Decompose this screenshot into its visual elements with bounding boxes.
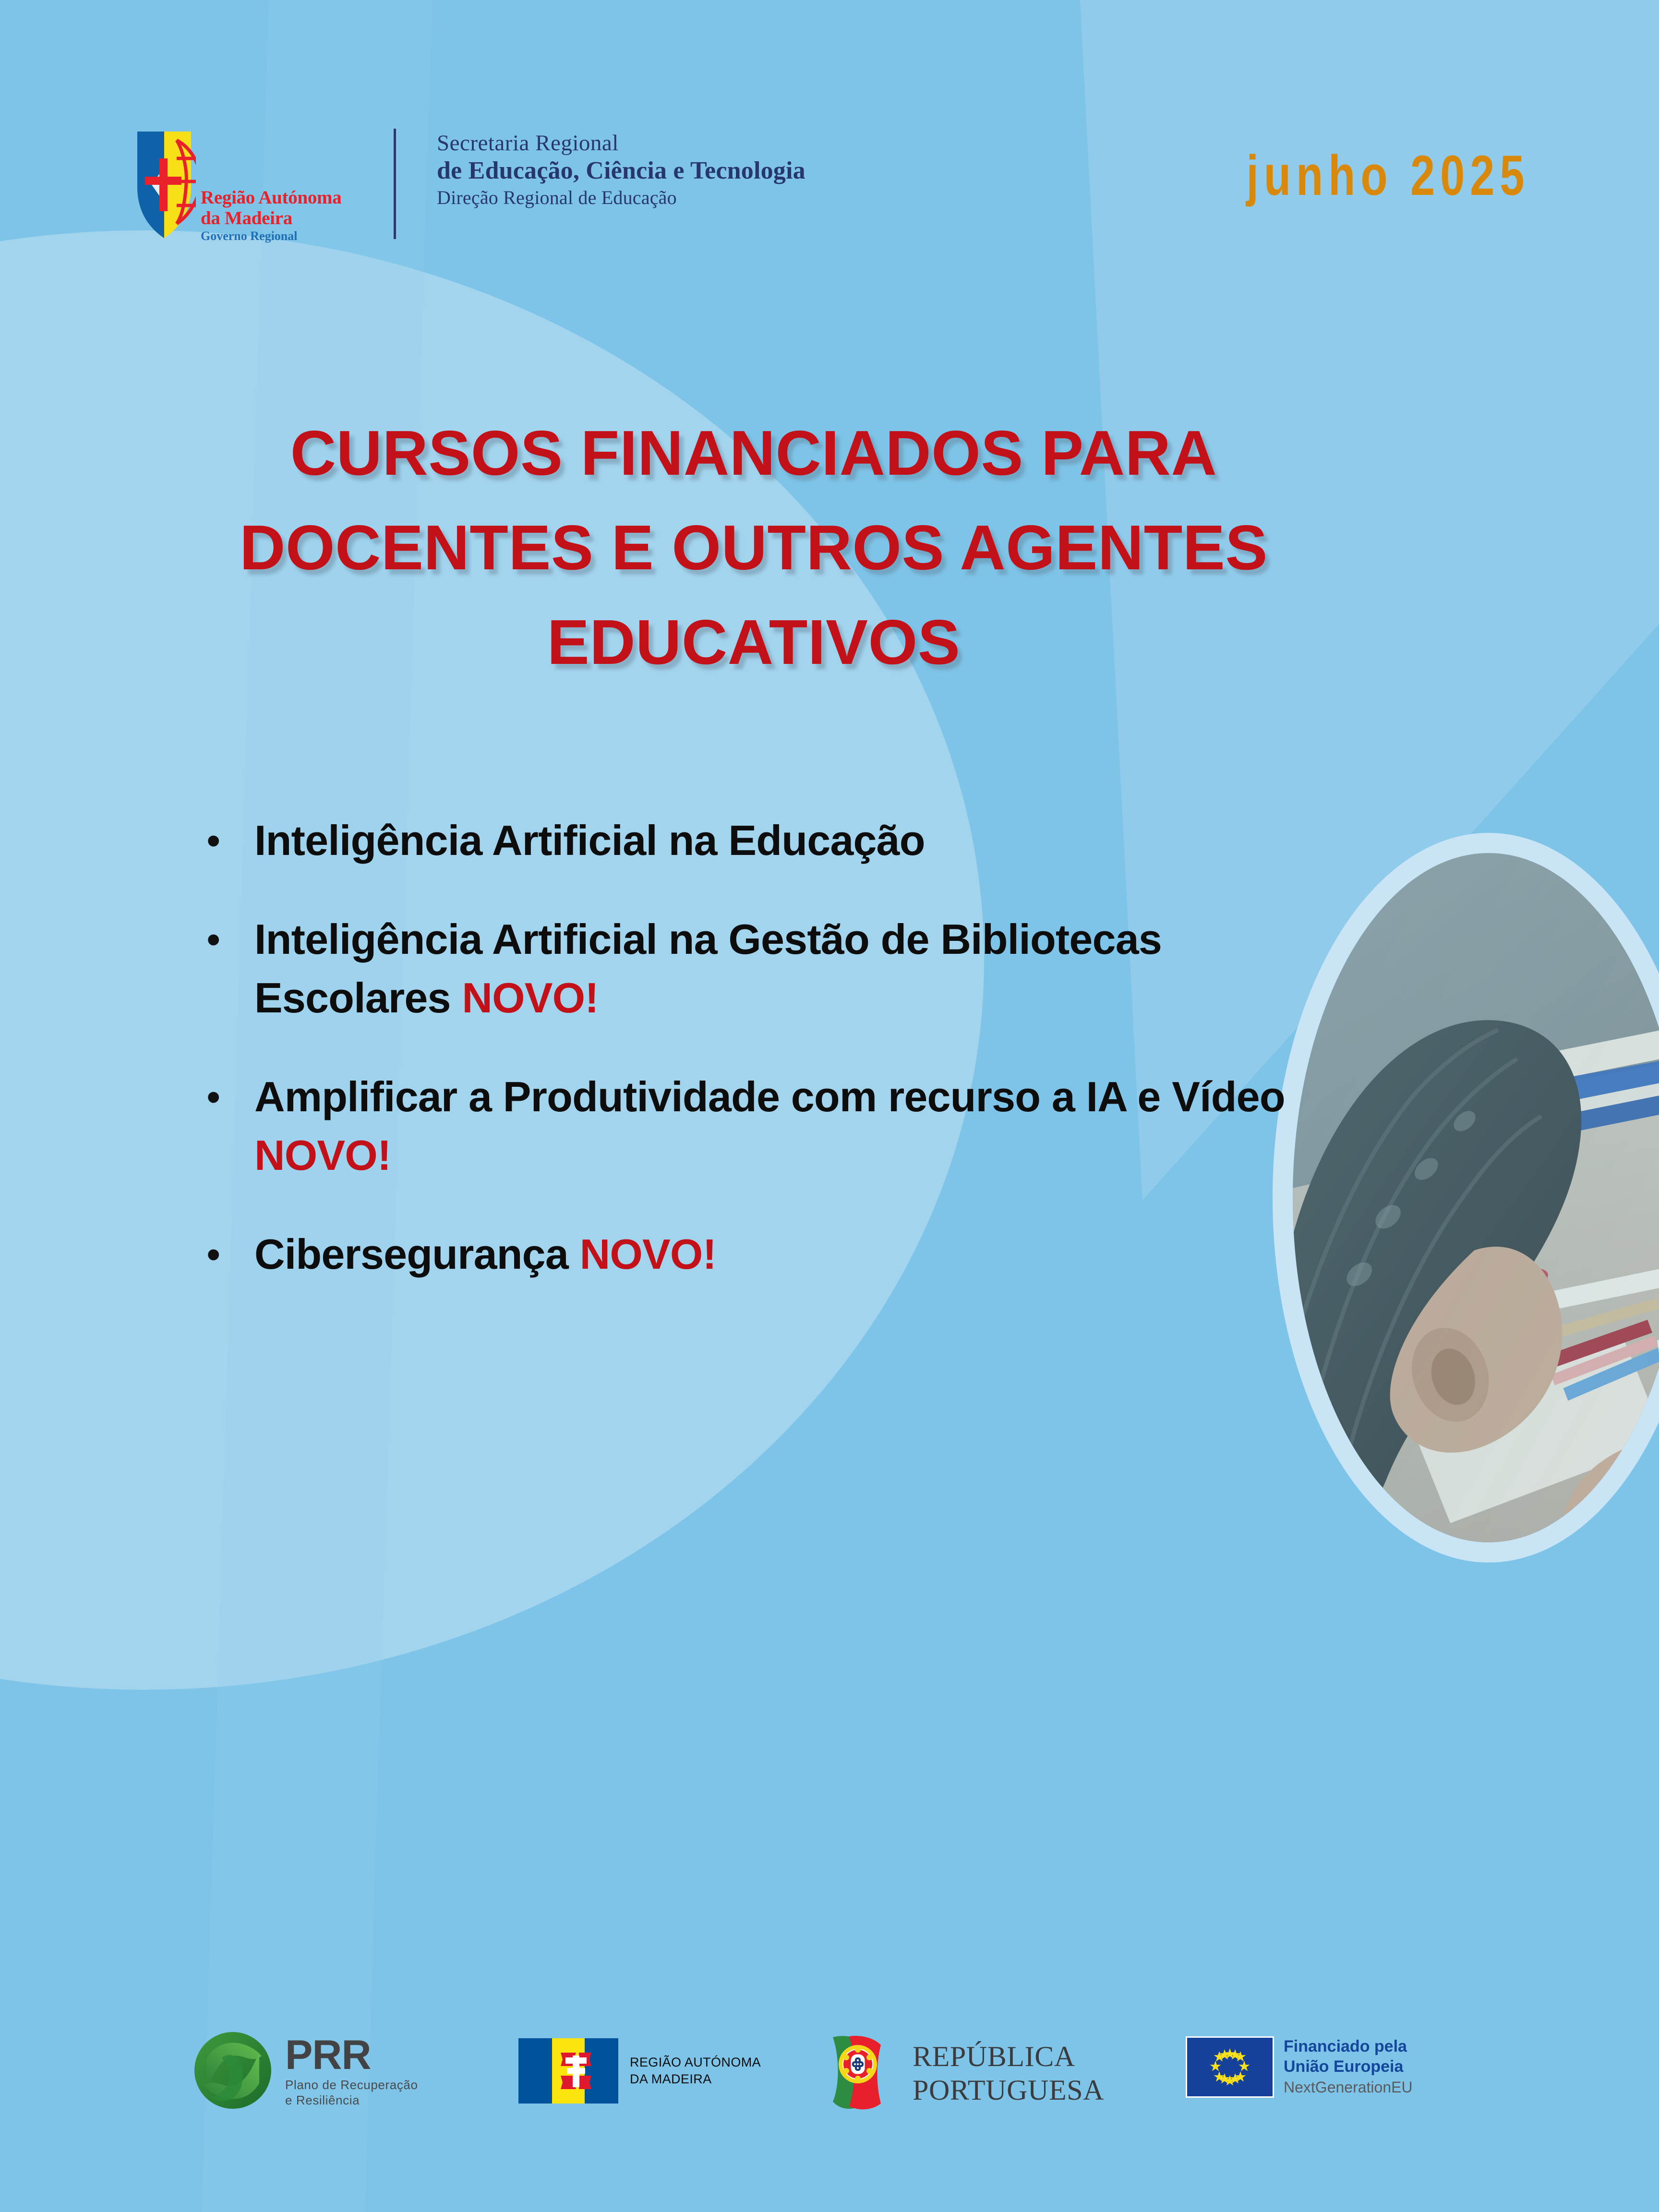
eu-line-2: União Europeia [1284,2056,1413,2077]
org-line-3: Governo Regional [201,228,341,244]
madeira-line-2: DA MADEIRA [630,2071,761,2088]
list-item: • Amplificar a Produtividade com recurso… [206,1068,1358,1185]
novo-badge: NOVO! [462,974,598,1022]
course-list: • Inteligência Artificial na Educação • … [206,811,1358,1324]
secretariat-line-2: de Educação, Ciência e Tecnologia [437,156,805,185]
eu-line-1: Financiado pela [1284,2036,1413,2056]
header-divider [394,129,396,239]
bullet-icon: • [206,910,254,969]
course-label: Inteligência Artificial na Educação [254,817,925,864]
poster-header: Região Autónoma da Madeira Governo Regio… [0,120,1659,245]
republica-line-1: REPÚBLICA [913,2040,1104,2073]
secretariat-line-3: Direção Regional de Educação [437,185,805,210]
eu-flag-icon [1186,2036,1274,2098]
footer-logos: PRR Plano de Recuperação e Resiliência [0,2025,1659,2150]
list-item: • Cibersegurança NOVO! [206,1225,1358,1284]
bullet-icon: • [206,1068,254,1126]
novo-badge: NOVO! [254,1131,391,1179]
page-title: CURSOS FINANCIADOS PARA DOCENTES E OUTRO… [173,406,1334,689]
date-label: junho 2025 [1246,143,1529,208]
poster-root: Região Autónoma da Madeira Governo Regio… [0,0,1659,2212]
prr-sub-line-1: Plano de Recuperação [285,2077,418,2092]
madeira-line-1: REGIÃO AUTÓNOMA [630,2054,761,2071]
prr-circle-icon [192,2030,274,2111]
course-label: Inteligência Artificial na Gestão de Bib… [254,915,1162,1022]
republica-line-2: PORTUGUESA [913,2073,1104,2107]
regiao-autonoma-madeira-logo: Região Autónoma da Madeira Governo Regio… [134,130,341,244]
secretariat-block: Secretaria Regional de Educação, Ciência… [437,130,805,210]
bullet-icon: • [206,1225,254,1284]
list-item: • Inteligência Artificial na Educação [206,811,1358,870]
course-label: Amplificar a Produtividade com recurso a… [254,1073,1285,1120]
prr-logo: PRR Plano de Recuperação e Resiliência [192,2030,418,2111]
madeira-flag-icon [518,2038,618,2104]
eu-funding-logo: Financiado pela União Europeia NextGener… [1186,2036,1413,2098]
prr-sub-line-2: e Resiliência [285,2092,418,2108]
portugal-flag-icon [828,2033,905,2113]
bullet-icon: • [206,811,254,870]
madeira-flag-logo: REGIÃO AUTÓNOMA DA MADEIRA [518,2038,761,2104]
madeira-shield-icon [134,130,196,240]
org-line-1: Região Autónoma [201,187,341,208]
prr-acronym: PRR [285,2033,418,2077]
secretariat-line-1: Secretaria Regional [437,130,805,156]
list-item: • Inteligência Artificial na Gestão de B… [206,910,1358,1027]
org-line-2: da Madeira [201,208,341,228]
course-label: Cibersegurança [254,1230,568,1278]
republica-portuguesa-logo: REPÚBLICA PORTUGUESA [828,2033,1104,2113]
eu-line-3: NextGenerationEU [1284,2077,1413,2098]
novo-badge: NOVO! [580,1230,716,1278]
